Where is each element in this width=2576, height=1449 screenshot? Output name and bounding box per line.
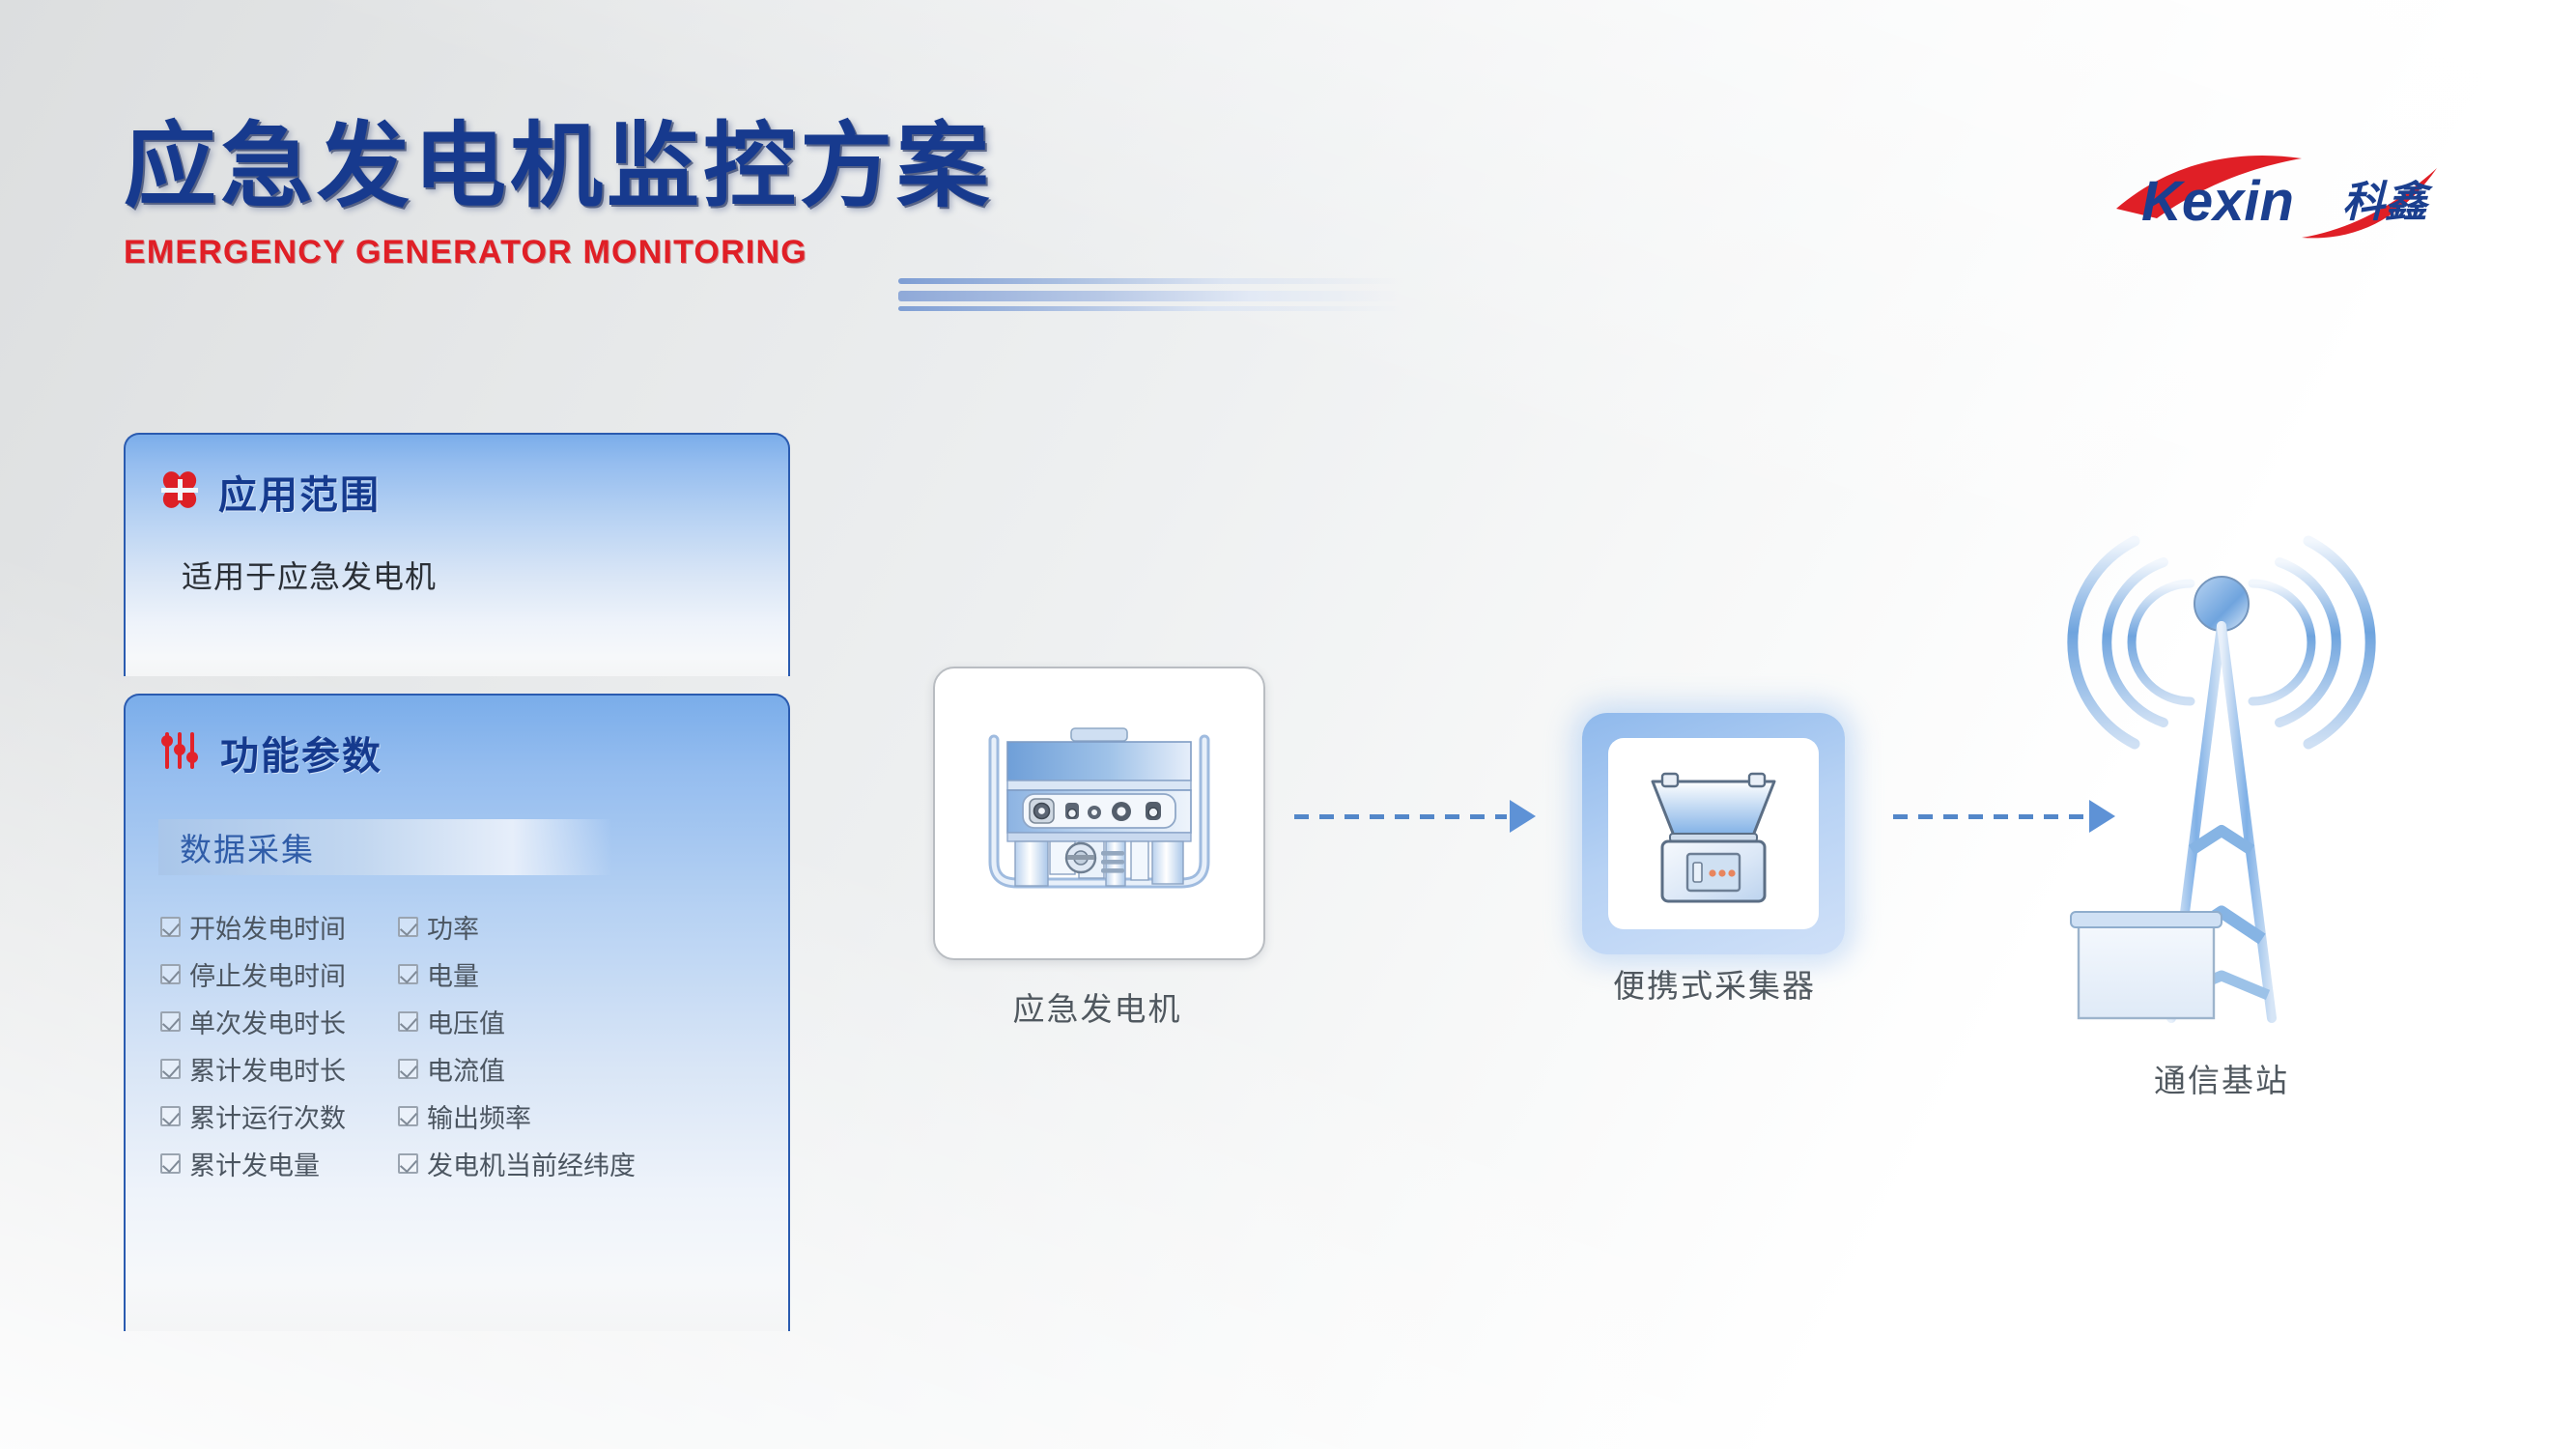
list-item[interactable]: 累计发电时长: [160, 1050, 388, 1088]
list-item-label: 发电机当前经纬度: [427, 1145, 636, 1182]
page-subtitle: EMERGENCY GENERATOR MONITORING: [124, 234, 993, 271]
list-item-label: 电压值: [427, 1003, 505, 1040]
connector-generator-to-collector: [1294, 800, 1536, 833]
list-item[interactable]: 功率: [398, 908, 788, 946]
list-item[interactable]: 电流值: [398, 1050, 788, 1088]
list-item[interactable]: 单次发电时长: [160, 1003, 388, 1040]
header: 应急发电机监控方案 EMERGENCY GENERATOR MONITORING: [124, 116, 993, 271]
list-item[interactable]: 电压值: [398, 1003, 788, 1040]
page-title: 应急发电机监控方案: [124, 116, 993, 218]
node-base-station-label: 通信基站: [2067, 1055, 2376, 1101]
list-item-label: 单次发电时长: [189, 1003, 346, 1040]
list-item-label: 电量: [427, 955, 479, 993]
list-item-label: 输出频率: [427, 1097, 531, 1135]
checkbox-checked-icon[interactable]: [160, 1106, 181, 1126]
dashed-line: [1893, 814, 2086, 819]
checkbox-checked-icon[interactable]: [398, 1153, 418, 1174]
decor-line-2: [898, 291, 1401, 301]
list-item-label: 累计发电量: [189, 1145, 320, 1182]
subsection-label: 数据采集: [180, 824, 315, 870]
panel-title: 应用范围: [218, 464, 381, 520]
checkbox-checked-icon[interactable]: [160, 964, 181, 984]
node-collector-inner: [1608, 738, 1819, 929]
decorative-lines: [898, 274, 1401, 315]
communication-tower-icon: [2067, 502, 2376, 1043]
slide-canvas: 应急发电机监控方案 EMERGENCY GENERATOR MONITORING…: [0, 0, 2576, 1449]
panel-body: 适用于应急发电机: [126, 520, 788, 597]
panel-header: 应用范围: [126, 435, 788, 520]
list-item[interactable]: 累计运行次数: [160, 1097, 388, 1135]
logo-cn-text: 科鑫: [2342, 179, 2434, 226]
node-generator[interactable]: [933, 667, 1265, 960]
checkbox-checked-icon[interactable]: [160, 917, 181, 937]
checkbox-checked-icon[interactable]: [398, 1106, 418, 1126]
list-item[interactable]: 发电机当前经纬度: [398, 1145, 788, 1182]
list-item-label: 开始发电时间: [189, 908, 346, 946]
checkbox-checked-icon[interactable]: [398, 964, 418, 984]
node-base-station[interactable]: [2067, 502, 2376, 1043]
list-item-label: 功率: [427, 908, 479, 946]
subsection-data-collection: 数据采集: [158, 819, 612, 875]
parameter-checklist: 开始发电时间 功率 停止发电时间 电量 单次发电时长 电压值 累计发电时长 电流…: [160, 908, 788, 1182]
clover-flower-icon: [158, 469, 201, 516]
panel-application-scope: 应用范围 适用于应急发电机: [124, 433, 790, 676]
panel-title: 功能参数: [220, 724, 382, 781]
checkbox-checked-icon[interactable]: [160, 1153, 181, 1174]
panel-header: 功能参数: [126, 696, 788, 781]
decor-line-3: [898, 306, 1401, 311]
checkbox-checked-icon[interactable]: [398, 1011, 418, 1032]
list-item[interactable]: 开始发电时间: [160, 908, 388, 946]
node-generator-label: 应急发电机: [933, 983, 1261, 1030]
portable-collector-case-icon: [1631, 756, 1796, 911]
node-collector[interactable]: [1582, 713, 1845, 954]
panel-text: 适用于应急发电机: [182, 553, 788, 597]
list-item[interactable]: 累计发电量: [160, 1145, 388, 1182]
list-item[interactable]: 输出频率: [398, 1097, 788, 1135]
list-item-label: 累计发电时长: [189, 1050, 346, 1088]
list-item-label: 停止发电时间: [189, 955, 346, 993]
list-item-label: 电流值: [427, 1050, 505, 1088]
node-collector-label: 便携式采集器: [1555, 960, 1874, 1007]
company-logo: Kexin 科鑫: [2112, 145, 2441, 249]
list-item-label: 累计运行次数: [189, 1097, 346, 1135]
checkbox-checked-icon[interactable]: [160, 1011, 181, 1032]
list-item[interactable]: 电量: [398, 955, 788, 993]
panel-function-parameters: 功能参数 数据采集 开始发电时间 功率 停止发电时间 电量 单次发电时长 电压值…: [124, 694, 790, 1331]
checkbox-checked-icon[interactable]: [398, 1059, 418, 1079]
dashed-line: [1294, 814, 1507, 819]
list-item[interactable]: 停止发电时间: [160, 955, 388, 993]
checkbox-checked-icon[interactable]: [398, 917, 418, 937]
checkbox-checked-icon[interactable]: [160, 1059, 181, 1079]
logo-latin-text: Kexin: [2141, 170, 2294, 233]
decor-line-1: [898, 278, 1401, 284]
sliders-icon: [158, 728, 203, 778]
arrow-head-icon: [1510, 800, 1536, 833]
portable-generator-icon: [978, 717, 1220, 910]
